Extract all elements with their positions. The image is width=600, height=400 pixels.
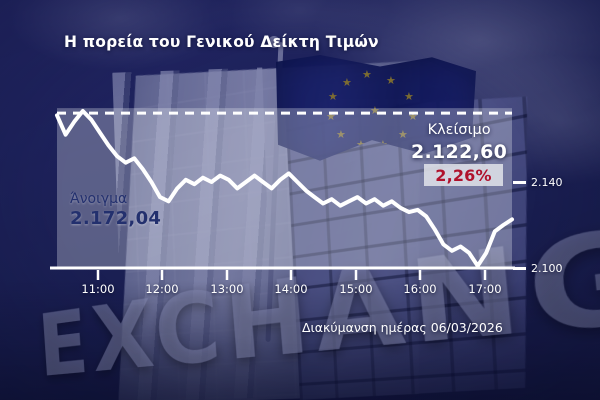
y-axis-tick-2140: 2.140	[513, 176, 563, 189]
x-axis-tick-label: 16:00	[403, 282, 436, 296]
y-axis-tick-2100: 2.100	[513, 262, 563, 275]
x-axis-tick-label: 13:00	[210, 282, 243, 296]
opening-price-value: 2.172,04	[70, 207, 161, 231]
change-percent-badge: 2,26%	[424, 164, 503, 186]
y-tick-dash-icon	[513, 267, 526, 270]
opening-price-block: Άνοιγμα 2.172,04	[70, 192, 161, 232]
x-axis-ticks	[98, 270, 485, 280]
chart-caption: Διακύμανση ημέρας 06/03/2026	[302, 320, 503, 335]
closing-price-block: Κλείσιμο 2.122,60	[411, 122, 507, 165]
x-axis-tick-label: 11:00	[81, 282, 114, 296]
y-axis-tick-2100-label: 2.100	[531, 262, 563, 275]
y-axis-tick-2140-label: 2.140	[531, 176, 563, 189]
x-axis-labels: 11:0012:0013:0014:0015:0016:0017:00	[0, 282, 600, 298]
closing-price-label: Κλείσιμο	[411, 122, 507, 139]
page-title: Η πορεία του Γενικού Δείκτη Τιμών	[64, 33, 379, 51]
x-axis-tick-label: 12:00	[145, 282, 178, 296]
closing-price-value: 2.122,60	[411, 139, 507, 166]
y-tick-dash-icon	[513, 181, 526, 184]
x-axis-tick-label: 14:00	[274, 282, 307, 296]
opening-price-label: Άνοιγμα	[70, 192, 161, 207]
x-axis-tick-label: 15:00	[339, 282, 372, 296]
stock-index-infographic: ★ ★ ★ ★ ★ ★ ★ ★ ★ ★ ★ ★ EXCHANGES	[0, 0, 600, 400]
x-axis-tick-label: 17:00	[468, 282, 501, 296]
